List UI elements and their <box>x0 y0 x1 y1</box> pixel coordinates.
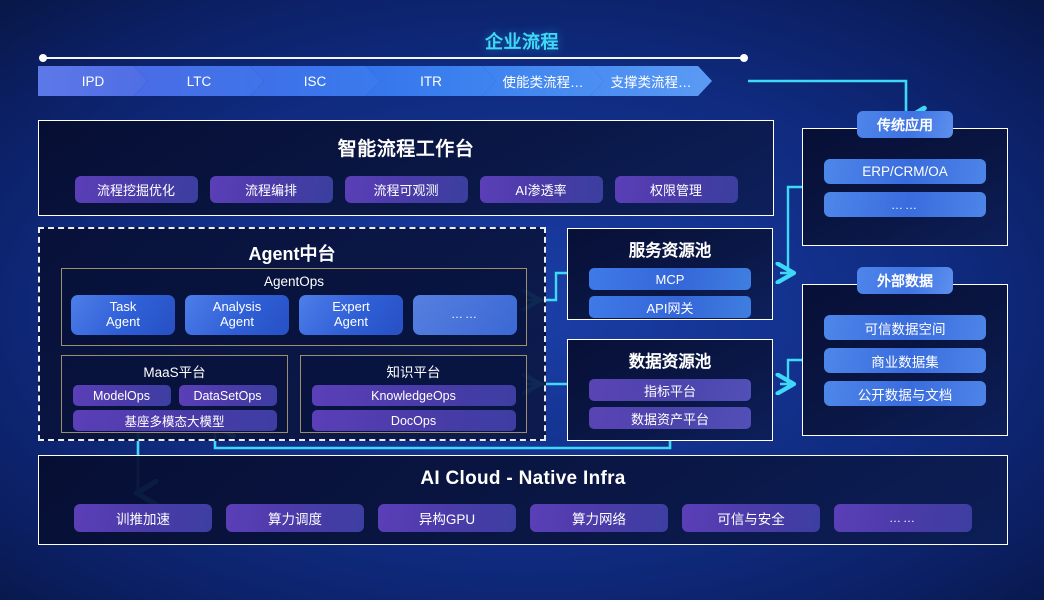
legacy-apps-panel: 传统应用 ERP/CRM/OA …… <box>802 128 1008 246</box>
infra-item-compute-network[interactable]: 算力网络 <box>530 504 668 532</box>
workbench-panel: 智能流程工作台 流程挖掘优化 流程编排 流程可观测 AI渗透率 权限管理 <box>38 120 774 216</box>
legacy-apps-item-erp[interactable]: ERP/CRM/OA <box>824 159 986 184</box>
maas-item-foundation-model[interactable]: 基座多模态大模型 <box>73 410 277 431</box>
infra-item-more[interactable]: …… <box>834 504 972 532</box>
maas-item-datasetops[interactable]: DataSetOps <box>179 385 277 406</box>
maas-row-2: 基座多模态大模型 <box>62 410 287 431</box>
chain-step-supporting[interactable]: 支撑类流程… <box>590 66 712 96</box>
data-pool-title: 数据资源池 <box>568 348 772 372</box>
workbench-item-observability[interactable]: 流程可观测 <box>345 176 468 203</box>
agent-card-analysis[interactable]: AnalysisAgent <box>185 295 289 335</box>
workbench-item-ai-penetration[interactable]: AI渗透率 <box>480 176 603 203</box>
infra-item-heterogeneous-gpu[interactable]: 异构GPU <box>378 504 516 532</box>
external-data-panel: 外部数据 可信数据空间 商业数据集 公开数据与文档 <box>802 284 1008 436</box>
infra-panel: AI Cloud - Native Infra 训推加速 算力调度 异构GPU … <box>38 455 1008 545</box>
external-data-item-public-docs[interactable]: 公开数据与文档 <box>824 381 986 406</box>
legacy-apps-item-more[interactable]: …… <box>824 192 986 217</box>
chain-title: 企业流程 <box>0 28 1044 54</box>
agent-card-more[interactable]: …… <box>413 295 517 335</box>
workbench-title: 智能流程工作台 <box>39 134 773 161</box>
infra-title: AI Cloud - Native Infra <box>39 468 1007 490</box>
infra-item-training-accel[interactable]: 训推加速 <box>74 504 212 532</box>
agent-card-line1: Expert <box>332 299 370 314</box>
agent-card-line2: Agent <box>334 314 368 329</box>
infra-items: 训推加速 算力调度 异构GPU 算力网络 可信与安全 …… <box>39 504 1007 532</box>
maas-row-1: ModelOps DataSetOps <box>62 385 287 406</box>
knowledge-item-docops[interactable]: DocOps <box>312 410 516 431</box>
external-data-label: 外部数据 <box>857 267 953 294</box>
knowledge-row-2: DocOps <box>301 410 526 431</box>
chain-step-ltc[interactable]: LTC <box>134 66 264 96</box>
workbench-item-permissions[interactable]: 权限管理 <box>615 176 738 203</box>
chain-step-label: ISC <box>304 74 327 89</box>
agent-card-line1: Analysis <box>213 299 261 314</box>
data-pool-item-data-asset[interactable]: 数据资产平台 <box>589 407 751 429</box>
workbench-items: 流程挖掘优化 流程编排 流程可观测 AI渗透率 权限管理 <box>39 176 773 203</box>
chain-step-label: ITR <box>420 74 442 89</box>
service-pool-item-mcp[interactable]: MCP <box>589 268 751 290</box>
chain-step-ipd[interactable]: IPD <box>38 66 148 96</box>
service-pool-panel: 服务资源池 MCP API网关 <box>567 228 773 320</box>
knowledge-row-1: KnowledgeOps <box>301 385 526 406</box>
agentops-title: AgentOps <box>62 274 526 289</box>
agent-card-expert[interactable]: ExpertAgent <box>299 295 403 335</box>
agent-card-line2: Agent <box>106 314 140 329</box>
service-pool-title: 服务资源池 <box>568 237 772 261</box>
maas-item-modelops[interactable]: ModelOps <box>73 385 171 406</box>
knowledge-item-knowledgeops[interactable]: KnowledgeOps <box>312 385 516 406</box>
chain-step-label: 支撑类流程… <box>611 71 692 91</box>
agent-card-line1: Task <box>110 299 137 314</box>
agent-card-task[interactable]: TaskAgent <box>71 295 175 335</box>
agent-hub-title: Agent中台 <box>40 240 544 266</box>
agentops-box: AgentOps TaskAgent AnalysisAgent ExpertA… <box>61 268 527 346</box>
service-pool-item-api-gateway[interactable]: API网关 <box>589 296 751 318</box>
workbench-item-mining[interactable]: 流程挖掘优化 <box>75 176 198 203</box>
data-pool-items: 指标平台 数据资产平台 <box>568 379 772 429</box>
service-pool-items: MCP API网关 <box>568 268 772 318</box>
chain-step-itr[interactable]: ITR <box>366 66 496 96</box>
agent-hub-panel: Agent中台 AgentOps TaskAgent AnalysisAgent… <box>38 227 546 441</box>
external-data-items: 可信数据空间 商业数据集 公开数据与文档 <box>803 315 1007 406</box>
workbench-item-orchestration[interactable]: 流程编排 <box>210 176 333 203</box>
infra-item-compute-scheduling[interactable]: 算力调度 <box>226 504 364 532</box>
infra-item-trust-security[interactable]: 可信与安全 <box>682 504 820 532</box>
chain-step-label: 使能类流程… <box>503 71 584 91</box>
legacy-apps-items: ERP/CRM/OA …… <box>803 159 1007 217</box>
chain-step-isc[interactable]: ISC <box>250 66 380 96</box>
chain-step-enabling[interactable]: 使能类流程… <box>482 66 604 96</box>
data-pool-panel: 数据资源池 指标平台 数据资产平台 <box>567 339 773 441</box>
legacy-apps-label: 传统应用 <box>857 111 953 138</box>
data-pool-item-metrics[interactable]: 指标平台 <box>589 379 751 401</box>
chain-rail <box>40 57 747 59</box>
agent-cards: TaskAgent AnalysisAgent ExpertAgent …… <box>62 295 526 335</box>
external-data-item-trusted-space[interactable]: 可信数据空间 <box>824 315 986 340</box>
maas-title: MaaS平台 <box>62 361 287 381</box>
diagram-canvas: 企业流程 IPD LTC ISC ITR 使能类流程… 支撑类流程… 智能流程工… <box>0 0 1044 600</box>
process-chain: IPD LTC ISC ITR 使能类流程… 支撑类流程… <box>38 66 698 96</box>
external-data-item-commercial-dataset[interactable]: 商业数据集 <box>824 348 986 373</box>
knowledge-box: 知识平台 KnowledgeOps DocOps <box>300 355 527 433</box>
knowledge-title: 知识平台 <box>301 361 526 381</box>
chain-step-label: IPD <box>82 74 105 89</box>
agent-card-line2: Agent <box>220 314 254 329</box>
maas-box: MaaS平台 ModelOps DataSetOps 基座多模态大模型 <box>61 355 288 433</box>
chain-step-label: LTC <box>187 74 212 89</box>
